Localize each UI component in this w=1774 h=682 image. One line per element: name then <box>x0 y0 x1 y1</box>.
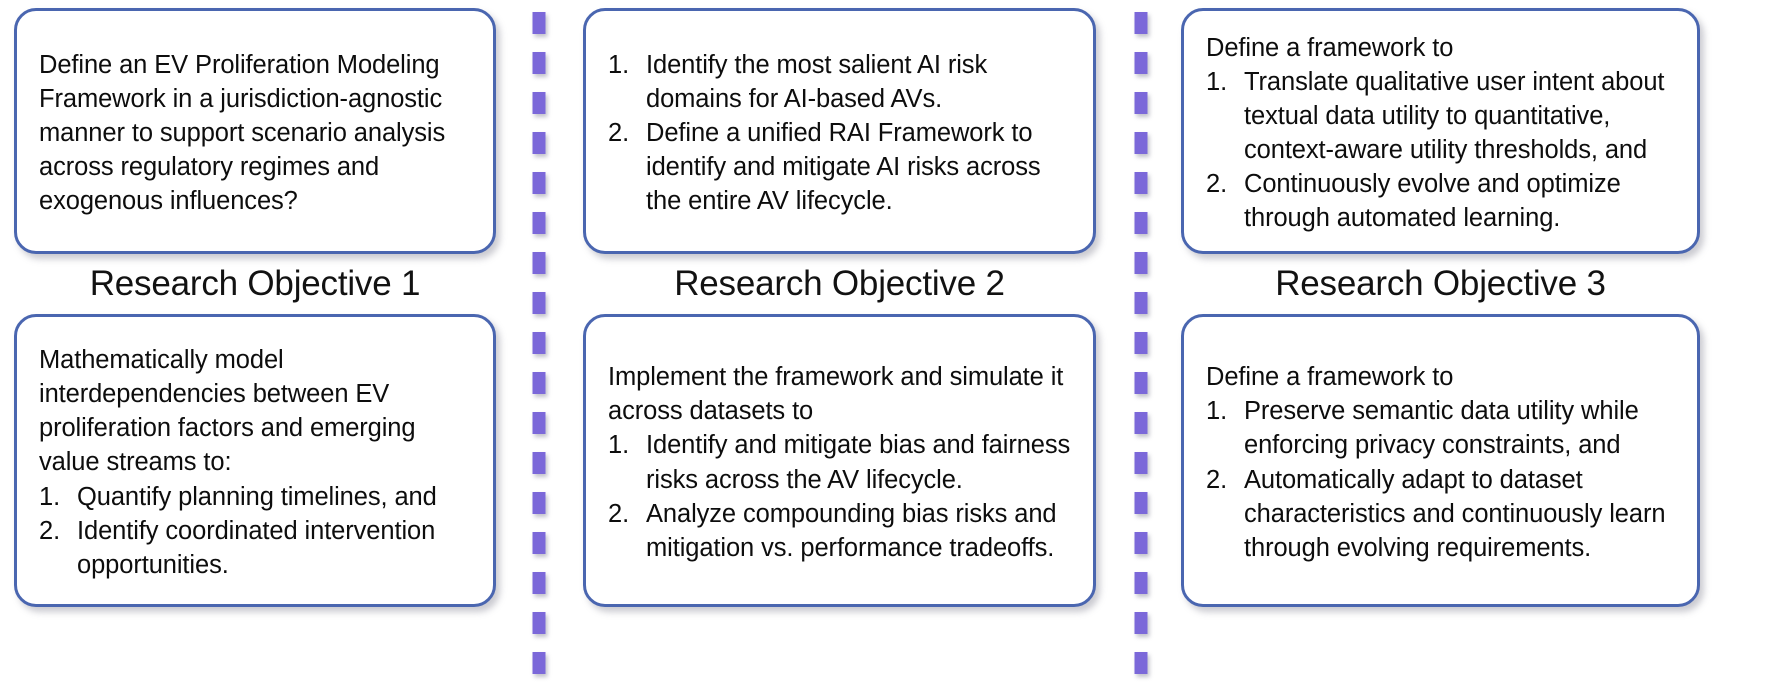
card-lead-text: Implement the framework and simulate it … <box>608 360 1071 428</box>
objective-label-2: Research Objective 2 <box>583 254 1096 314</box>
dashed-line-icon <box>1134 12 1147 680</box>
objective-label-3: Research Objective 3 <box>1181 254 1700 314</box>
card-lead-text: Mathematically model interdependencies b… <box>39 343 471 480</box>
card-objective-3-bottom: Define a framework to Preserve semantic … <box>1181 314 1700 607</box>
card-objective-3-top: Define a framework to Translate qualitat… <box>1181 8 1700 254</box>
column-divider-1 <box>510 0 567 682</box>
card-objective-3-bottom-body: Define a framework to Preserve semantic … <box>1206 360 1675 565</box>
card-numbered-list: Identify the most salient AI risk domain… <box>608 48 1071 219</box>
card-objective-2-bottom-body: Implement the framework and simulate it … <box>608 360 1071 565</box>
card-objective-1-bottom: Mathematically model interdependencies b… <box>14 314 496 607</box>
list-item: Translate qualitative user intent about … <box>1206 65 1675 167</box>
column-divider-2 <box>1112 0 1169 682</box>
card-objective-1-bottom-body: Mathematically model interdependencies b… <box>39 343 471 582</box>
list-item: Identify coordinated intervention opport… <box>39 514 471 582</box>
card-objective-2-top-body: Identify the most salient AI risk domain… <box>608 48 1071 219</box>
card-numbered-list: Identify and mitigate bias and fairness … <box>608 428 1071 565</box>
card-lead-text: Define a framework to <box>1206 31 1675 65</box>
card-lead-text: Define a framework to <box>1206 360 1675 394</box>
list-item: Preserve semantic data utility while enf… <box>1206 394 1675 462</box>
list-item: Automatically adapt to dataset character… <box>1206 463 1675 565</box>
card-lead-text: Define an EV Proliferation Modeling Fram… <box>39 48 471 219</box>
card-numbered-list: Translate qualitative user intent about … <box>1206 65 1675 236</box>
list-item: Identify the most salient AI risk domain… <box>608 48 1071 116</box>
list-item: Continuously evolve and optimize through… <box>1206 167 1675 235</box>
objective-label-1: Research Objective 1 <box>14 254 496 314</box>
column-objective-3: Define a framework to Translate qualitat… <box>1169 0 1714 682</box>
column-objective-1: Define an EV Proliferation Modeling Fram… <box>0 0 510 682</box>
card-objective-1-top: Define an EV Proliferation Modeling Fram… <box>14 8 496 254</box>
list-item: Quantify planning timelines, and <box>39 480 471 514</box>
card-numbered-list: Preserve semantic data utility while enf… <box>1206 394 1675 565</box>
card-objective-2-bottom: Implement the framework and simulate it … <box>583 314 1096 607</box>
list-item: Define a unified RAI Framework to identi… <box>608 116 1071 218</box>
research-objectives-diagram: Define an EV Proliferation Modeling Fram… <box>0 0 1774 682</box>
card-objective-3-top-body: Define a framework to Translate qualitat… <box>1206 31 1675 236</box>
card-objective-1-top-body: Define an EV Proliferation Modeling Fram… <box>39 48 471 219</box>
card-numbered-list: Quantify planning timelines, and Identif… <box>39 480 471 582</box>
card-objective-2-top: Identify the most salient AI risk domain… <box>583 8 1096 254</box>
list-item: Analyze compounding bias risks and mitig… <box>608 497 1071 565</box>
list-item: Identify and mitigate bias and fairness … <box>608 428 1071 496</box>
columns-container: Define an EV Proliferation Modeling Fram… <box>0 0 1774 682</box>
dashed-line-icon <box>532 12 545 680</box>
column-objective-2: Identify the most salient AI risk domain… <box>567 0 1112 682</box>
